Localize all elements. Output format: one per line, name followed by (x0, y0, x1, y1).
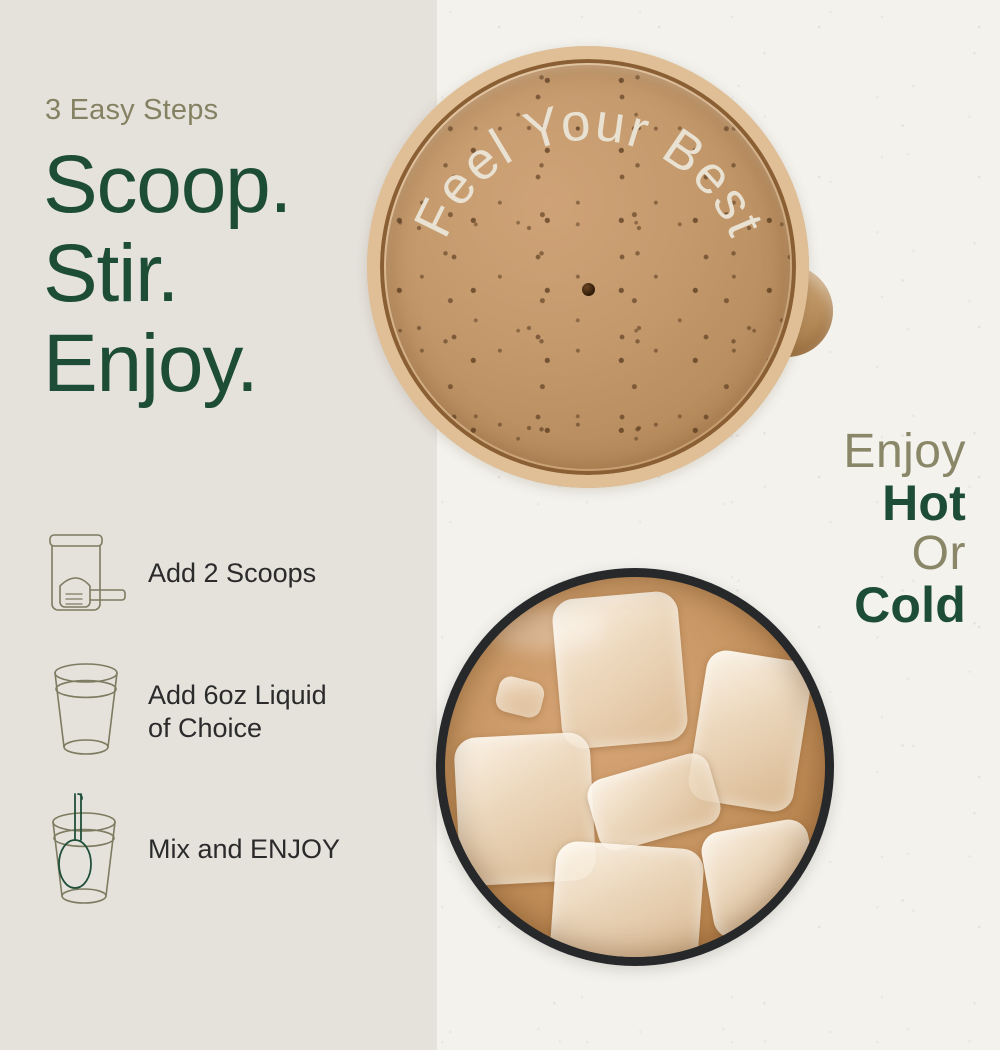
hot-cold-line-cold: Cold (843, 580, 966, 630)
step-label: Add 2 Scoops (148, 557, 316, 590)
steps-list: Add 2 Scoops Add 6oz Liquid of Choice (38, 512, 428, 926)
step-item: Add 6oz Liquid of Choice (38, 650, 428, 774)
hot-cold-line-or: Or (843, 530, 966, 578)
ice-cube (453, 732, 597, 887)
step-item: Add 2 Scoops (38, 512, 428, 636)
step-label: Add 6oz Liquid of Choice (148, 679, 327, 746)
headline-line-1: Scoop. (43, 140, 423, 229)
hot-or-cold-callout: Enjoy Hot Or Cold (843, 428, 966, 630)
headline-line-3: Enjoy. (43, 319, 423, 408)
ice-cube (549, 840, 705, 957)
promo-poster: Feel Your Best 3 Easy Steps Scoop. Stir.… (0, 0, 1000, 1050)
glass-glare (485, 605, 605, 651)
ice-cube (686, 648, 814, 815)
page-title: Scoop. Stir. Enjoy. (43, 140, 423, 408)
mug-body: Feel Your Best (367, 46, 809, 488)
step-item: Mix and ENJOY (38, 788, 428, 912)
mug-rim (367, 46, 809, 488)
step-label: Mix and ENJOY (148, 833, 340, 866)
ice-cube (493, 674, 546, 720)
ice-cube (698, 816, 823, 941)
headline-line-2: Stir. (43, 229, 423, 318)
iced-coffee-glass-image (436, 568, 834, 966)
hot-coffee-mug-image: Feel Your Best (367, 46, 809, 488)
hot-cold-line-hot: Hot (843, 478, 966, 528)
glass-with-spoon-icon (38, 794, 134, 906)
eyebrow-text: 3 Easy Steps (45, 94, 218, 127)
jar-with-scoop-icon (38, 518, 134, 630)
ice-cube (583, 749, 725, 855)
ice-cube (551, 590, 690, 750)
drinking-glass-icon (38, 656, 134, 768)
iced-coffee-liquid (445, 577, 825, 957)
hot-cold-line-enjoy: Enjoy (843, 428, 966, 476)
